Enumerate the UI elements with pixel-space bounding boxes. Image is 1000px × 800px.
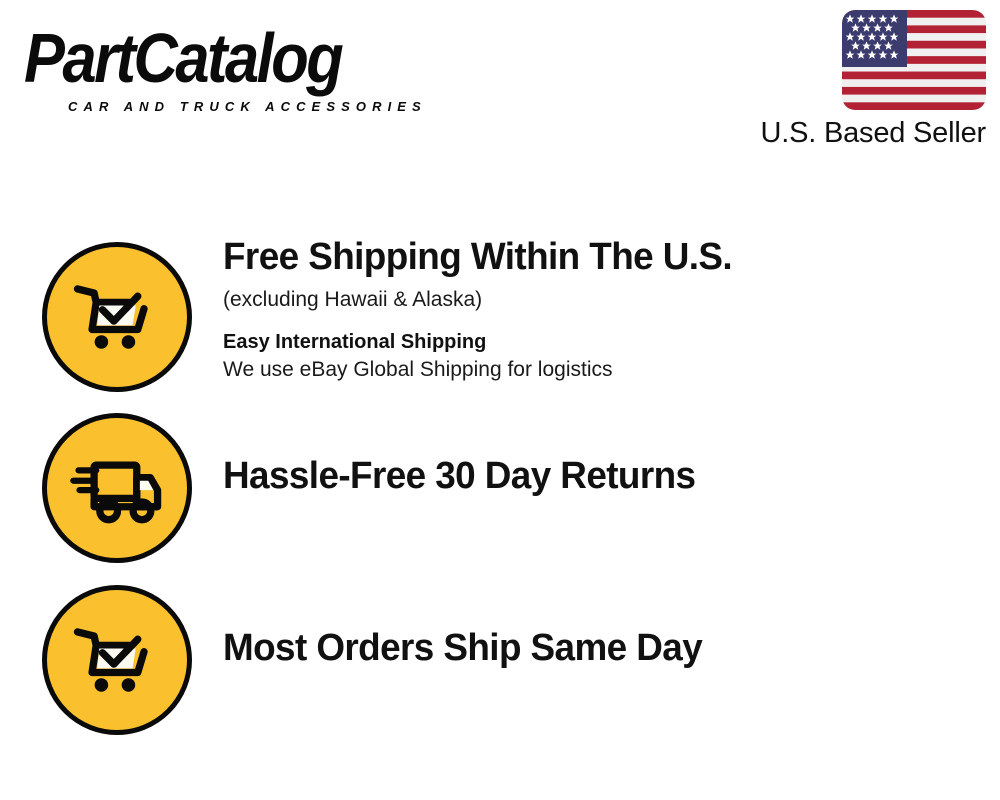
- feature-row: Most Orders Ship Same Day: [0, 573, 1000, 743]
- brand-logo[interactable]: PartCatalog CAR AND TRUCK ACCESSORIES: [24, 24, 494, 114]
- brand-wordmark: PartCatalog: [24, 24, 489, 96]
- feature-heading: Hassle-Free 30 Day Returns: [223, 454, 960, 498]
- feature-sub-strong: Easy International Shipping: [223, 328, 983, 356]
- delivery-truck-icon: [42, 413, 192, 563]
- feature-row: Free Shipping Within The U.S. (excluding…: [0, 230, 1000, 400]
- us-based-seller-label: U.S. Based Seller: [686, 116, 986, 150]
- shopping-cart-check-icon: [42, 242, 192, 392]
- feature-subnote: (excluding Hawaii & Alaska): [223, 286, 983, 314]
- us-based-seller-badge: U.S. Based Seller: [686, 10, 986, 150]
- feature-row: Hassle-Free 30 Day Returns: [0, 401, 1000, 571]
- shopping-cart-check-icon: [42, 585, 192, 735]
- feature-heading: Free Shipping Within The U.S.: [223, 235, 960, 279]
- us-flag-icon: [842, 10, 986, 110]
- feature-heading: Most Orders Ship Same Day: [223, 626, 960, 670]
- feature-text-block: Most Orders Ship Same Day: [223, 626, 983, 670]
- page-header: PartCatalog CAR AND TRUCK ACCESSORIES: [0, 0, 1000, 170]
- brand-tagline: CAR AND TRUCK ACCESSORIES: [68, 99, 494, 114]
- feature-sub-detail: We use eBay Global Shipping for logistic…: [223, 356, 983, 384]
- feature-text-block: Hassle-Free 30 Day Returns: [223, 454, 983, 498]
- feature-text-block: Free Shipping Within The U.S. (excluding…: [223, 235, 983, 384]
